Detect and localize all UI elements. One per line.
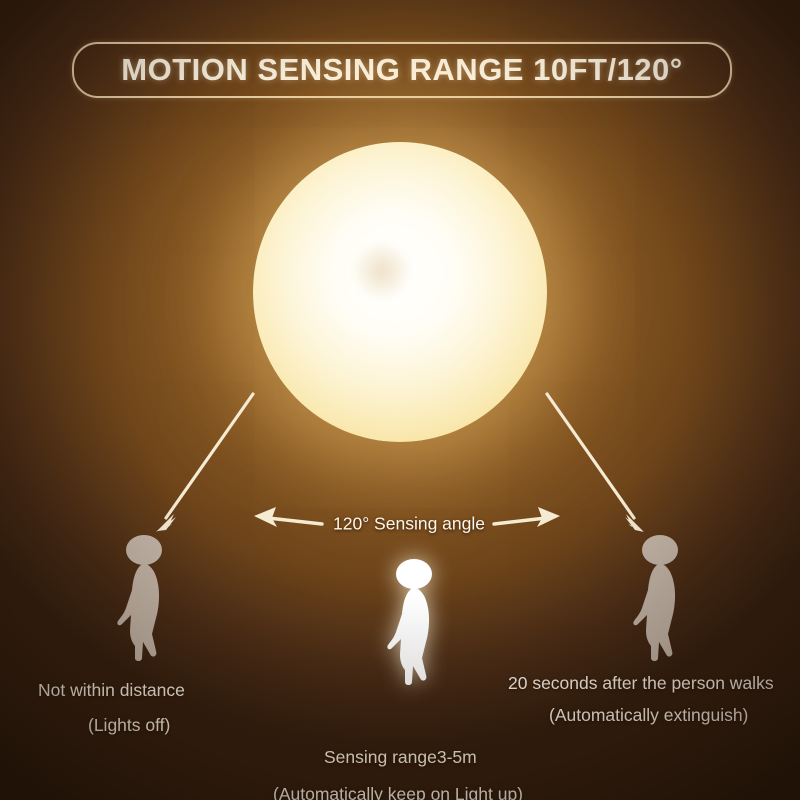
arrow-left-icon xyxy=(254,507,322,527)
caption-center-line2: (Automatically keep on Light up) xyxy=(273,784,523,800)
person-in-range-center-icon xyxy=(378,558,452,688)
caption-right-line1: 20 seconds after the person walks xyxy=(508,673,774,694)
arrow-down-right-icon xyxy=(547,394,644,532)
title-banner: MOTION SENSING RANGE 10FT/120° xyxy=(72,42,732,98)
caption-left-line1: Not within distance xyxy=(38,680,185,701)
led-lamp-disc xyxy=(253,142,547,442)
caption-left-line2: (Lights off) xyxy=(88,715,170,736)
person-out-of-range-right-icon xyxy=(624,534,698,664)
arrow-down-left-icon xyxy=(156,394,253,532)
caption-center-line1: Sensing range3-5m xyxy=(324,747,477,768)
caption-right-line2: (Automatically extinguish) xyxy=(549,705,748,726)
sensing-angle-label: 120° Sensing angle xyxy=(333,514,485,535)
infographic-canvas: MOTION SENSING RANGE 10FT/120° 120° xyxy=(0,0,800,800)
person-out-of-range-left-icon xyxy=(108,534,182,664)
pir-sensor-dot-icon xyxy=(354,244,410,298)
page-title: MOTION SENSING RANGE 10FT/120° xyxy=(121,52,682,88)
arrow-right-icon xyxy=(494,507,560,527)
